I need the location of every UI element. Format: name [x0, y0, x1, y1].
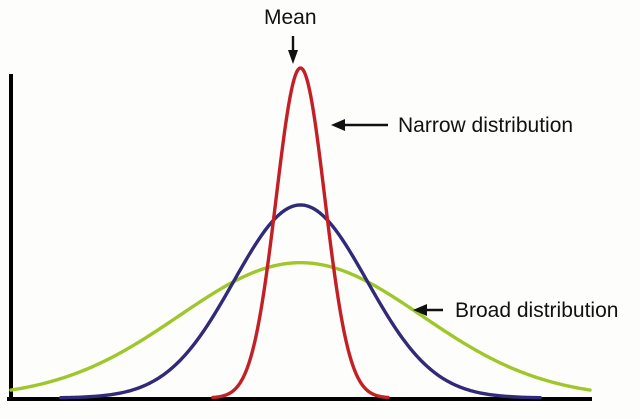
- curve-narrow-distribution: [213, 68, 388, 397]
- mean-arrow-icon: [288, 36, 298, 64]
- chart-canvas: [0, 0, 640, 419]
- narrow-arrow-icon: [331, 119, 388, 131]
- annotation-label-mean: Mean: [264, 6, 317, 30]
- annotation-arrows: [288, 36, 443, 316]
- curve-broad-distribution: [11, 263, 590, 390]
- distribution-chart-figure: Mean Narrow distribution Broad distribut…: [0, 0, 640, 419]
- annotation-label-broad-distribution: Broad distribution: [455, 299, 618, 323]
- annotation-label-narrow-distribution: Narrow distribution: [398, 114, 573, 138]
